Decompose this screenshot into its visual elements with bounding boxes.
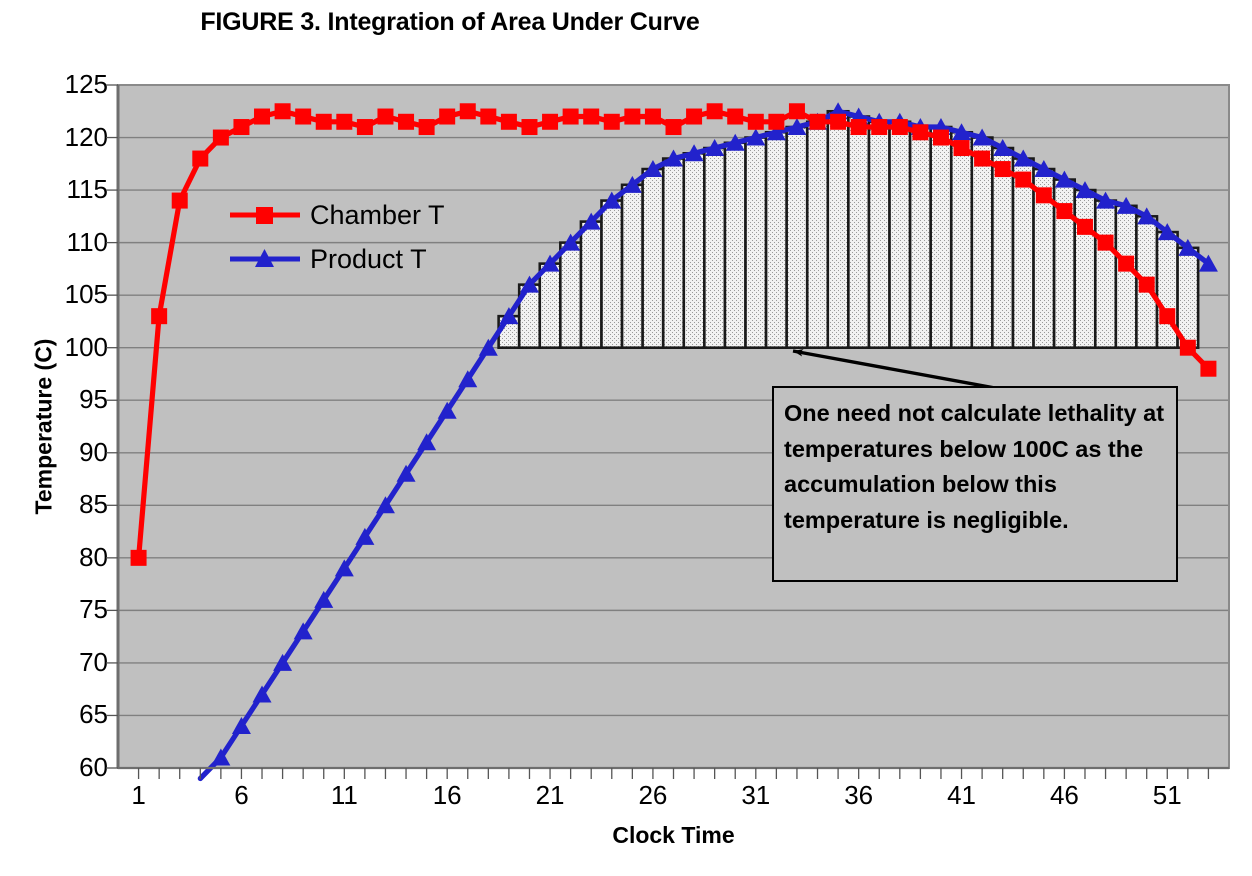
data-point-marker <box>995 161 1011 177</box>
integration-bar <box>746 138 767 348</box>
data-point-marker <box>1118 256 1134 272</box>
integration-bar <box>807 122 828 348</box>
integration-bar <box>540 264 561 348</box>
integration-bar <box>972 138 993 348</box>
annotation-text: One need not calculate lethality at temp… <box>784 396 1166 538</box>
data-point-marker <box>1015 172 1031 188</box>
data-point-marker <box>1056 203 1072 219</box>
data-point-marker <box>645 109 661 125</box>
integration-bar <box>931 127 952 348</box>
data-point-marker <box>707 103 723 119</box>
chart-legend: Chamber T Product T <box>228 196 478 278</box>
data-point-marker <box>666 119 682 135</box>
data-point-marker <box>460 103 476 119</box>
data-point-marker <box>604 114 620 130</box>
data-point-marker <box>1200 361 1216 377</box>
data-point-marker <box>1077 219 1093 235</box>
data-point-marker <box>336 114 352 130</box>
data-point-marker <box>357 119 373 135</box>
integration-bar <box>910 127 931 348</box>
integration-bar <box>869 122 890 348</box>
integration-bar <box>601 201 622 348</box>
data-point-marker <box>727 109 743 125</box>
integration-bar <box>890 122 911 348</box>
data-point-marker <box>1180 340 1196 356</box>
integration-bar <box>643 169 664 348</box>
integration-bar <box>1075 190 1096 348</box>
data-point-marker <box>419 119 435 135</box>
data-point-marker <box>1159 308 1175 324</box>
integration-bar <box>622 185 643 348</box>
data-point-marker <box>501 114 517 130</box>
integration-bar <box>766 132 787 347</box>
integration-bar <box>951 132 972 347</box>
integration-bar <box>684 153 705 347</box>
legend-label-product-t: Product T <box>310 244 427 275</box>
data-point-marker <box>254 109 270 125</box>
data-point-marker <box>624 109 640 125</box>
legend-label-chamber-t: Chamber T <box>310 200 445 231</box>
data-point-marker <box>316 114 332 130</box>
data-point-marker <box>521 119 537 135</box>
data-point-marker <box>1036 187 1052 203</box>
data-point-marker <box>480 109 496 125</box>
integration-bar <box>787 127 808 348</box>
integration-bar <box>848 117 869 348</box>
data-point-marker <box>686 109 702 125</box>
data-point-marker <box>439 109 455 125</box>
data-point-marker <box>295 109 311 125</box>
data-point-marker <box>974 151 990 167</box>
integration-bar <box>1116 206 1137 348</box>
legend-item-chamber-t: Chamber T <box>228 196 445 234</box>
data-point-marker <box>398 114 414 130</box>
annotation-textbox: One need not calculate lethality at temp… <box>772 386 1178 582</box>
data-point-marker <box>933 130 949 146</box>
data-point-marker <box>172 193 188 209</box>
data-point-marker <box>768 114 784 130</box>
data-point-marker <box>954 140 970 156</box>
integration-bar <box>704 148 725 348</box>
data-point-marker <box>748 114 764 130</box>
data-point-marker <box>192 151 208 167</box>
legend-swatch-triangle-icon <box>228 244 302 274</box>
data-point-marker <box>810 114 826 130</box>
figure-root: FIGURE 3. Integration of Area Under Curv… <box>0 0 1252 876</box>
legend-item-product-t: Product T <box>228 240 427 278</box>
data-point-marker <box>1098 235 1114 251</box>
data-point-marker <box>789 103 805 119</box>
data-point-marker <box>851 119 867 135</box>
data-point-marker <box>830 114 846 130</box>
data-point-marker <box>542 114 558 130</box>
data-point-marker <box>892 119 908 135</box>
data-point-marker <box>912 124 928 140</box>
integration-bar <box>560 243 581 348</box>
legend-swatch-square-icon <box>228 200 302 230</box>
data-point-marker <box>213 130 229 146</box>
data-point-marker <box>131 550 147 566</box>
integration-bar <box>992 148 1013 348</box>
integration-bar <box>725 143 746 348</box>
integration-bar <box>828 111 849 347</box>
data-point-marker <box>233 119 249 135</box>
data-point-marker <box>1139 277 1155 293</box>
data-point-marker <box>583 109 599 125</box>
data-point-marker <box>871 119 887 135</box>
data-point-marker <box>275 103 291 119</box>
integration-bar <box>663 159 684 348</box>
integration-bar <box>1095 201 1116 348</box>
data-point-marker <box>151 308 167 324</box>
data-point-marker <box>563 109 579 125</box>
integration-bar <box>581 222 602 348</box>
data-point-marker <box>377 109 393 125</box>
